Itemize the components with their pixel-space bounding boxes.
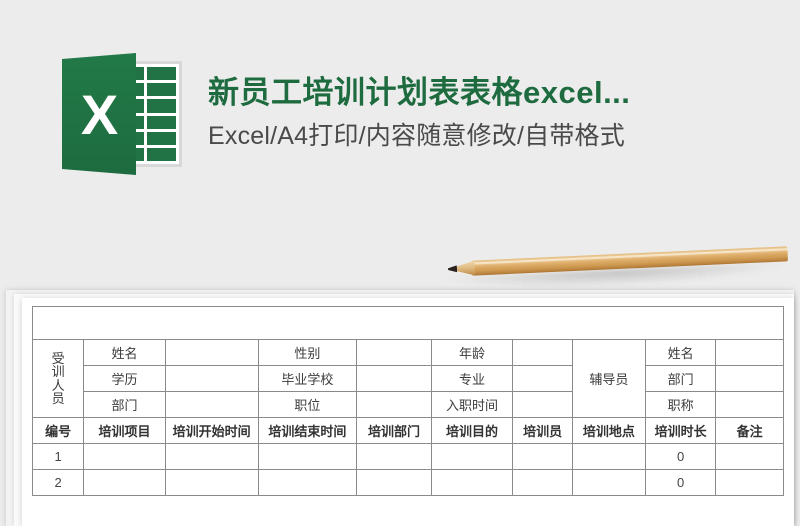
cell-no[interactable]: 1 (33, 444, 84, 470)
cell-end[interactable] (258, 470, 356, 496)
column-header-trainer: 培训员 (513, 418, 573, 444)
field-value-mentor-title[interactable] (716, 392, 784, 418)
table-row: 1 0 (33, 444, 784, 470)
pencil-body (472, 246, 788, 275)
field-label-age: 年龄 (431, 340, 512, 366)
column-header-no: 编号 (33, 418, 84, 444)
preview-banner: X 新员工培训计划表表格excel... Excel/A4打印/内容随意修改/自… (0, 0, 800, 232)
cell-no[interactable]: 2 (33, 470, 84, 496)
info-row-2: 学历 毕业学校 专业 部门 (33, 366, 784, 392)
table-column-header-row: 编号 培训项目 培训开始时间 培训结束时间 培训部门 培训目的 培训员 培训地点… (33, 418, 784, 444)
column-header-start: 培训开始时间 (165, 418, 258, 444)
field-label-entry-date: 入职时间 (431, 392, 512, 418)
excel-logo-letter: X (62, 53, 136, 175)
excel-logo-icon: X (62, 53, 186, 175)
field-label-name: 姓名 (84, 340, 165, 366)
cell-trainer[interactable] (513, 470, 573, 496)
column-header-purpose: 培训目的 (431, 418, 512, 444)
cell-note[interactable] (716, 444, 784, 470)
trainee-char-1: 受 (35, 352, 81, 365)
info-row-3: 部门 职位 入职时间 职称 (33, 392, 784, 418)
field-label-mentor-name: 姓名 (645, 340, 716, 366)
field-label-mentor-dept: 部门 (645, 366, 716, 392)
cell-place[interactable] (573, 470, 646, 496)
trainee-char-4: 员 (35, 392, 81, 405)
cell-start[interactable] (165, 444, 258, 470)
field-label-school: 毕业学校 (258, 366, 356, 392)
field-label-position: 职位 (258, 392, 356, 418)
cell-purpose[interactable] (431, 470, 512, 496)
field-value-major[interactable] (513, 366, 573, 392)
cell-duration[interactable]: 0 (645, 444, 716, 470)
cell-project[interactable] (84, 470, 165, 496)
cell-start[interactable] (165, 470, 258, 496)
column-header-duration: 培训时长 (645, 418, 716, 444)
cell-dept[interactable] (357, 470, 432, 496)
cell-dept[interactable] (357, 444, 432, 470)
column-header-place: 培训地点 (573, 418, 646, 444)
cell-trainer[interactable] (513, 444, 573, 470)
banner-text-block: 新员工培训计划表表格excel... Excel/A4打印/内容随意修改/自带格… (208, 77, 630, 156)
page-subtitle: Excel/A4打印/内容随意修改/自带格式 (208, 123, 630, 149)
field-value-education[interactable] (165, 366, 258, 392)
field-label-dept: 部门 (84, 392, 165, 418)
field-value-name[interactable] (165, 340, 258, 366)
cell-end[interactable] (258, 444, 356, 470)
cell-project[interactable] (84, 444, 165, 470)
cell-place[interactable] (573, 444, 646, 470)
info-row-1: 受 训 人 员 姓名 性别 年龄 辅导员 姓名 (33, 340, 784, 366)
sheet-title: 新员工培训计划表 (33, 307, 784, 340)
trainee-char-3: 人 (35, 379, 81, 392)
column-header-note: 备注 (716, 418, 784, 444)
cell-purpose[interactable] (431, 444, 512, 470)
field-value-mentor-name[interactable] (716, 340, 784, 366)
trainee-char-2: 训 (35, 365, 81, 378)
field-value-school[interactable] (357, 366, 432, 392)
column-header-project: 培训项目 (84, 418, 165, 444)
column-header-end: 培训结束时间 (258, 418, 356, 444)
cell-duration[interactable]: 0 (645, 470, 716, 496)
mentor-group-label: 辅导员 (573, 340, 646, 418)
field-value-age[interactable] (513, 340, 573, 366)
spreadsheet-card: 新员工培训计划表 受 训 人 员 姓名 性别 年龄 辅导员 姓名 学历 毕业学校 (22, 298, 794, 526)
trainee-group-label: 受 训 人 员 (33, 340, 84, 418)
field-value-position[interactable] (357, 392, 432, 418)
field-value-gender[interactable] (357, 340, 432, 366)
field-value-dept[interactable] (165, 392, 258, 418)
table-title-row: 新员工培训计划表 (33, 307, 784, 340)
training-plan-table: 新员工培训计划表 受 训 人 员 姓名 性别 年龄 辅导员 姓名 学历 毕业学校 (32, 306, 784, 496)
table-row: 2 0 (33, 470, 784, 496)
pencil-tip (448, 265, 457, 272)
column-header-dept: 培训部门 (357, 418, 432, 444)
field-label-gender: 性别 (258, 340, 356, 366)
field-label-major: 专业 (431, 366, 512, 392)
field-label-mentor-title: 职称 (645, 392, 716, 418)
field-value-mentor-dept[interactable] (716, 366, 784, 392)
pencil-cone (455, 260, 476, 276)
field-value-entry-date[interactable] (513, 392, 573, 418)
page-title: 新员工培训计划表表格excel... (208, 77, 630, 110)
field-label-education: 学历 (84, 366, 165, 392)
cell-note[interactable] (716, 470, 784, 496)
